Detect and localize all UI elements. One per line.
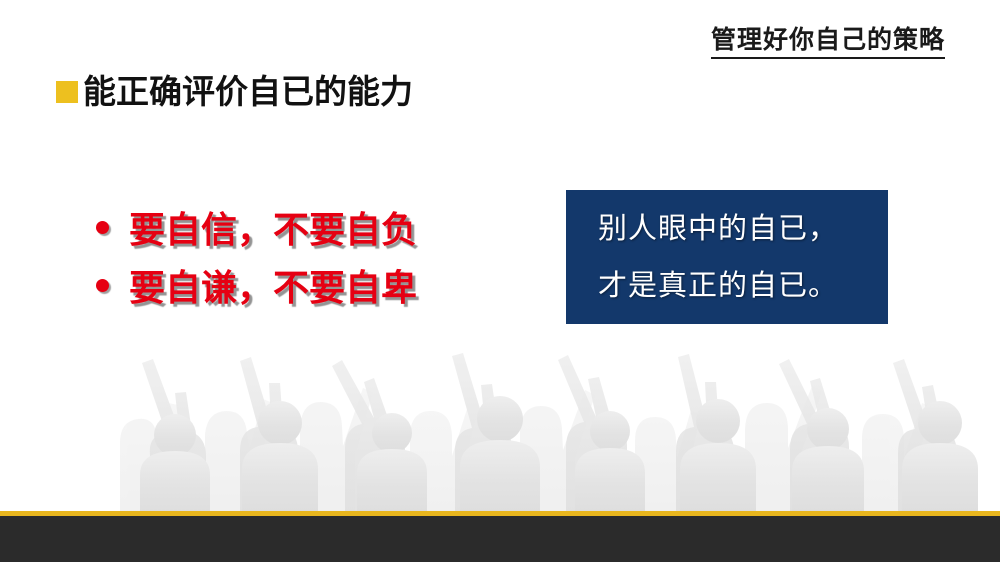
- slide-header-title: 管理好你自己的策略: [711, 26, 945, 59]
- dark-footer-bar: [0, 516, 1000, 562]
- page-title: 能正确评价自已的能力: [56, 74, 413, 110]
- quote-line-2: 才是真正的自已。: [598, 271, 874, 300]
- page-title-label: 能正确评价自已的能力: [83, 74, 413, 110]
- yellow-square-bullet-icon: [56, 81, 78, 103]
- quote-callout-box: 别人眼中的自已， 才是真正的自已。: [566, 190, 888, 324]
- list-item-label: 要自谦，不要自卑: [129, 259, 417, 311]
- red-dot-bullet-icon: [96, 221, 109, 234]
- red-dot-bullet-icon: [96, 279, 109, 292]
- quote-line-1: 别人眼中的自已，: [598, 214, 874, 243]
- list-item-label: 要自信，不要自负: [129, 201, 417, 253]
- bullet-list: 要自信，不要自负 要自谦，不要自卑: [96, 198, 526, 314]
- list-item: 要自谦，不要自卑: [96, 256, 526, 314]
- slide-canvas: 管理好你自己的策略 能正确评价自已的能力 要自信，不要自负 要自谦，不要自卑 别…: [0, 0, 1000, 562]
- list-item: 要自信，不要自负: [96, 198, 526, 256]
- crowd-silhouette-icon: [0, 323, 1000, 513]
